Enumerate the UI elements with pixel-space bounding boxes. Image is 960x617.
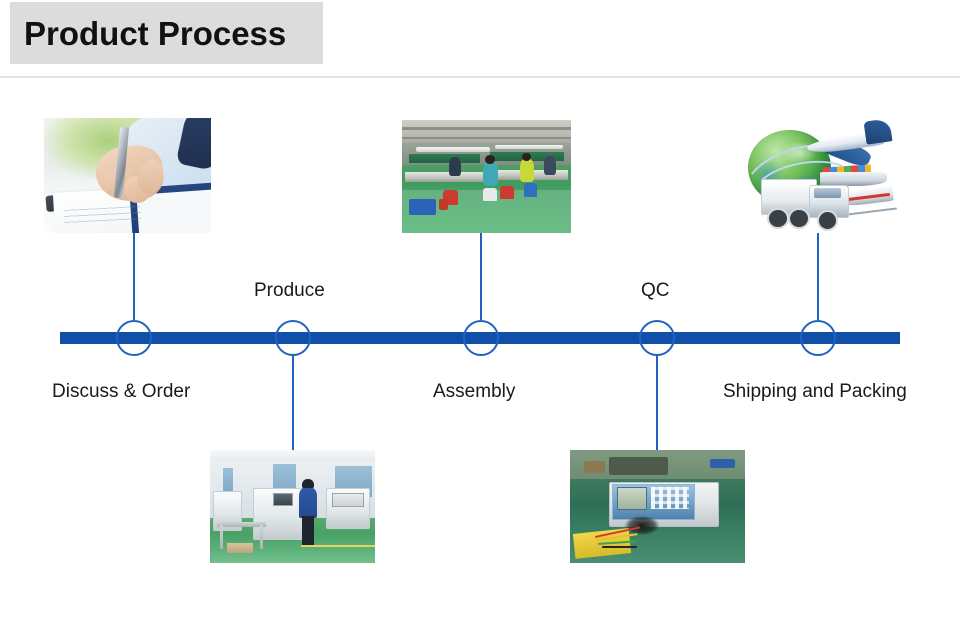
timeline-node-qc[interactable] [639, 320, 675, 356]
photo-shipping-image [740, 118, 900, 233]
background-box [584, 461, 605, 472]
truck-wheel-1 [767, 208, 789, 229]
wire-black [602, 546, 637, 548]
cardboard-box [227, 543, 253, 553]
machine-panel-right [332, 493, 364, 507]
overhead-lamp-2 [495, 145, 563, 150]
timeline-node-produce[interactable] [275, 320, 311, 356]
connector-produce [292, 356, 294, 450]
stool-white-1 [483, 188, 497, 202]
photo-produce [210, 450, 375, 563]
connector-shipping [817, 233, 819, 320]
timeline-label-produce: Produce [254, 281, 325, 300]
stool-blue-1 [524, 183, 538, 197]
worker-3 [449, 157, 461, 176]
workbench-shelf-1 [409, 154, 480, 163]
crate-blue [409, 199, 436, 215]
workshop-ceiling [210, 450, 375, 461]
machine-control-screen [273, 493, 293, 506]
photo-qc [570, 450, 745, 563]
photo-discuss-order [44, 118, 211, 233]
timeline-node-discuss-order[interactable] [116, 320, 152, 356]
stool-red-2 [500, 186, 514, 200]
timeline-node-shipping-and-packing[interactable] [800, 320, 836, 356]
background-blue-bin [710, 459, 735, 468]
timeline-label-qc: QC [641, 281, 670, 300]
container-ship [820, 172, 887, 186]
worker-2 [520, 158, 534, 182]
crate-red [439, 199, 447, 210]
blue-wall-panel-3 [223, 468, 233, 493]
side-table-leg [220, 525, 223, 550]
document-text-lines [64, 206, 142, 228]
worker-legs [302, 516, 314, 545]
header-divider [0, 76, 960, 78]
page-title: Product Process [10, 17, 286, 50]
page-header: Product Process [0, 0, 960, 78]
floor-safety-line [301, 545, 375, 547]
connector-assembly [480, 233, 482, 320]
worker-1 [483, 161, 498, 186]
connector-discuss-order [133, 233, 135, 320]
truck-wheel-2 [788, 208, 810, 229]
overhead-lamp-1 [416, 147, 490, 152]
connector-qc [656, 356, 658, 450]
timeline-label-discuss-order: Discuss & Order [52, 382, 190, 401]
ceiling-beam-2 [402, 137, 571, 139]
truck-windshield [814, 188, 841, 198]
photo-shipping-and-packing [740, 118, 900, 233]
test-equipment-keypad [651, 487, 690, 508]
worker-1-head [485, 155, 495, 164]
side-table-leg-2 [260, 525, 263, 550]
background-shelf [609, 457, 669, 475]
photo-produce-image [210, 450, 375, 563]
page-title-box: Product Process [10, 2, 323, 64]
timeline-label-shipping-and-packing: Shipping and Packing [723, 382, 907, 401]
workbench-1 [405, 172, 486, 182]
factory-ceiling [402, 120, 571, 145]
ceiling-beam-1 [402, 127, 571, 130]
worker-body [299, 488, 317, 517]
photo-assembly [402, 120, 571, 233]
timeline-label-assembly: Assembly [433, 382, 515, 401]
photo-qc-image [570, 450, 745, 563]
timeline-node-assembly[interactable] [463, 320, 499, 356]
photo-discuss-order-image [44, 118, 211, 233]
worker-4 [544, 156, 556, 175]
test-equipment-display [617, 487, 647, 509]
photo-assembly-image [402, 120, 571, 233]
